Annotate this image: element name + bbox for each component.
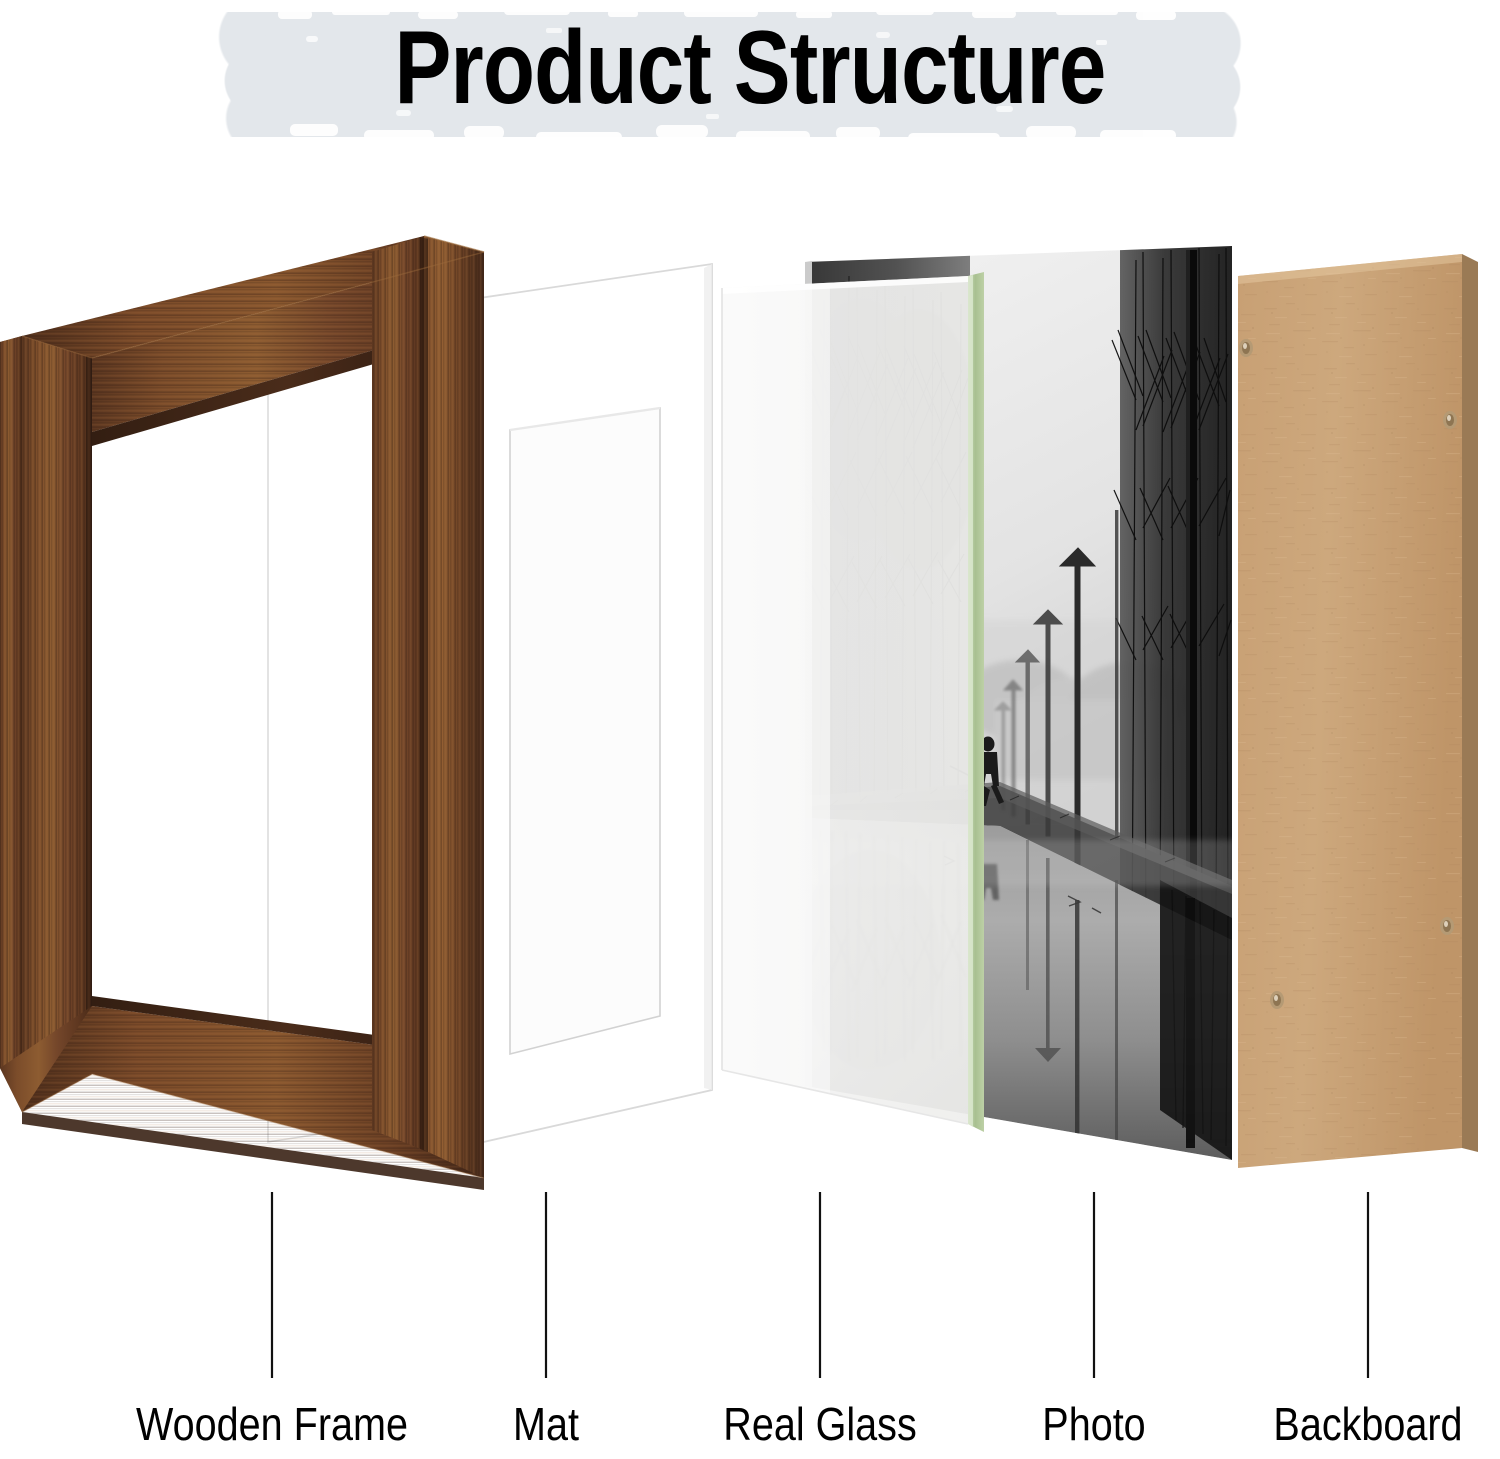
backboard-fiber-texture bbox=[1238, 254, 1462, 1168]
leader-lines bbox=[272, 1192, 1368, 1378]
exploded-view-diagram bbox=[0, 0, 1500, 1459]
mat-window-opening bbox=[510, 408, 660, 1054]
rivet-top-left bbox=[1239, 339, 1253, 357]
layer-label-photo: Photo bbox=[956, 1396, 1231, 1452]
rivet-bottom-right bbox=[1440, 917, 1454, 935]
frame-right-stile-edge-shadow bbox=[420, 237, 428, 1152]
glass-edge-highlight bbox=[968, 275, 973, 1127]
layer-wooden-frame bbox=[0, 236, 484, 1190]
layer-label-backboard: Backboard bbox=[1196, 1396, 1500, 1452]
layer-real-glass bbox=[722, 272, 984, 1132]
glass-sheen bbox=[722, 283, 830, 1094]
rivet-bottom-left bbox=[1270, 991, 1284, 1009]
rivet-top-right bbox=[1443, 411, 1457, 429]
mat-right-edge bbox=[704, 264, 712, 1090]
backboard-thickness-edge bbox=[1462, 254, 1478, 1152]
layer-label-mat: Mat bbox=[408, 1396, 683, 1452]
layer-label-wooden-frame: Wooden Frame bbox=[83, 1396, 461, 1452]
frame-left-stile-inner-lip bbox=[86, 356, 92, 1076]
layer-label-real-glass: Real Glass bbox=[648, 1396, 992, 1452]
layer-backboard bbox=[1238, 254, 1478, 1168]
layer-mat bbox=[466, 264, 712, 1146]
